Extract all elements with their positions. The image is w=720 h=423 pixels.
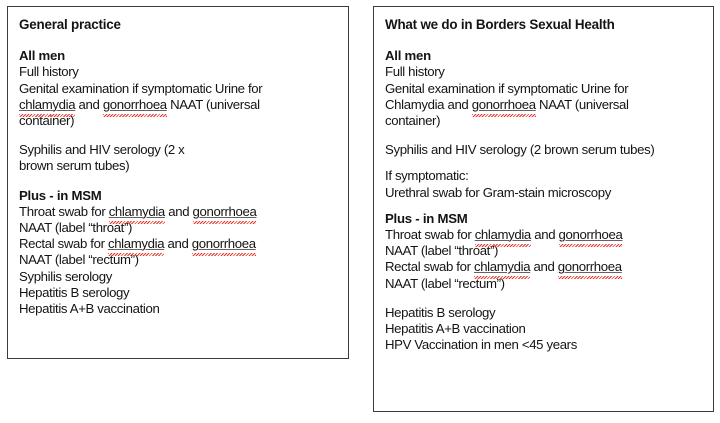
- heading-all-men: All men: [19, 48, 339, 64]
- heading-all-men: All men: [385, 48, 704, 64]
- spellcheck-word-chlamydia: chlamydia: [109, 204, 165, 220]
- text-full-history: Full history: [385, 64, 704, 80]
- spacer: [19, 33, 339, 48]
- text-hpv-vaccination: HPV Vaccination in men <45 years: [385, 337, 704, 353]
- text-hepatitis-ab-vaccination: Hepatitis A+B vaccination: [19, 301, 339, 317]
- spellcheck-word-gonorrhoea: gonorrhoea: [193, 204, 257, 220]
- text-rectal-swab: Rectal swab for chlamydia and gonorrhoea: [19, 236, 339, 252]
- panel-general-practice: General practice All men Full history Ge…: [7, 6, 349, 359]
- spacer: [385, 201, 704, 211]
- panel-borders-sexual-health-title: What we do in Borders Sexual Health: [385, 17, 704, 33]
- text-and: and: [75, 97, 103, 112]
- text-throat-swab: Throat swab for chlamydia and gonorrhoea: [385, 227, 704, 243]
- text-syphilis-hiv-serology: Syphilis and HIV serology (2 brown serum…: [385, 142, 704, 158]
- text-throat-swab-for: Throat swab for: [385, 227, 475, 242]
- text-chlamydia-gonorrhoea-naat: Chlamydia and gonorrhoea NAAT (universal: [385, 97, 704, 113]
- spacer: [385, 33, 704, 48]
- spellcheck-word-chlamydia: chlamydia: [475, 227, 531, 243]
- text-hepatitis-b-serology: Hepatitis B serology: [385, 305, 704, 321]
- spacer: [385, 292, 704, 305]
- text-naat-label-rectum: NAAT (label “rectum”): [19, 252, 339, 268]
- text-and: and: [531, 227, 559, 242]
- text-rectal-swab-for: Rectal swab for: [19, 236, 108, 251]
- spellcheck-word-chlamydia: chlamydia: [19, 97, 75, 113]
- text-rectal-swab: Rectal swab for chlamydia and gonorrhoea: [385, 259, 704, 275]
- panel-general-practice-title: General practice: [19, 17, 339, 33]
- text-naat-label-throat: NAAT (label “throat”): [385, 243, 704, 259]
- spellcheck-word-gonorrhoea: gonorrhoea: [103, 97, 167, 113]
- spacer: [385, 158, 704, 168]
- text-chlamydia-gonorrhoea-naat: chlamydia and gonorrhoea NAAT (universal: [19, 97, 339, 113]
- text-syphilis-serology: Syphilis serology: [19, 269, 339, 285]
- text-chlamydia-and: Chlamydia and: [385, 97, 472, 112]
- spellcheck-word-gonorrhoea: gonorrhoea: [472, 97, 536, 113]
- text-rectal-swab-for: Rectal swab for: [385, 259, 474, 274]
- spellcheck-word-chlamydia: chlamydia: [108, 236, 164, 252]
- slide-canvas: { "colors": { "background": "#ffffff", "…: [0, 0, 720, 423]
- panel-borders-sexual-health-content: What we do in Borders Sexual Health All …: [374, 7, 713, 353]
- text-and: and: [164, 236, 192, 251]
- text-full-history: Full history: [19, 64, 339, 80]
- spellcheck-word-chlamydia: chlamydia: [474, 259, 530, 275]
- panel-general-practice-content: General practice All men Full history Ge…: [8, 7, 348, 317]
- spellcheck-word-gonorrhoea: gonorrhoea: [558, 259, 622, 275]
- text-container: container): [385, 113, 704, 129]
- text-throat-swab-for: Throat swab for: [19, 204, 109, 219]
- text-naat-universal: NAAT (universal: [536, 97, 629, 112]
- text-brown-serum-tubes: brown serum tubes): [19, 158, 339, 174]
- heading-plus-in-msm: Plus - in MSM: [385, 211, 704, 227]
- text-and: and: [165, 204, 193, 219]
- text-genital-examination: Genital examination if symptomatic Urine…: [19, 81, 339, 97]
- text-throat-swab: Throat swab for chlamydia and gonorrhoea: [19, 204, 339, 220]
- spacer: [19, 129, 339, 142]
- spellcheck-word-gonorrhoea: gonorrhoea: [559, 227, 623, 243]
- text-urethral-swab-gram-stain: Urethral swab for Gram-stain microscopy: [385, 185, 704, 201]
- panel-borders-sexual-health: What we do in Borders Sexual Health All …: [373, 6, 714, 412]
- spacer: [385, 129, 704, 142]
- text-genital-examination: Genital examination if symptomatic Urine…: [385, 81, 704, 97]
- text-container: container): [19, 113, 339, 129]
- text-naat-universal: NAAT (universal: [167, 97, 260, 112]
- text-syphilis-hiv-serology: Syphilis and HIV serology (2 x: [19, 142, 339, 158]
- spellcheck-word-gonorrhoea: gonorrhoea: [192, 236, 256, 252]
- heading-plus-in-msm: Plus - in MSM: [19, 188, 339, 204]
- spacer: [19, 175, 339, 188]
- text-hepatitis-b-serology: Hepatitis B serology: [19, 285, 339, 301]
- text-naat-label-rectum: NAAT (label “rectum”): [385, 276, 704, 292]
- text-if-symptomatic: If symptomatic:: [385, 168, 704, 184]
- text-and: and: [530, 259, 558, 274]
- text-naat-label-throat: NAAT (label “throat”): [19, 220, 339, 236]
- text-hepatitis-ab-vaccination: Hepatitis A+B vaccination: [385, 321, 704, 337]
